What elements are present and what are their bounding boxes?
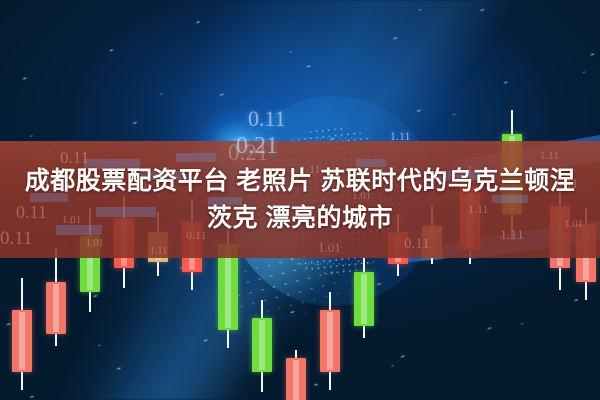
page-title: 成都股票配资平台 老照片 苏联时代的乌克兰顿涅 茨克 漂亮的城市 (0, 163, 600, 237)
floating-number: 1.11 (390, 130, 411, 142)
floating-number: 0.11 (248, 108, 286, 130)
banner-image: 0.111.011.110.111.010.111.011.010.211.11… (0, 0, 600, 400)
floating-number: 0.21 (236, 134, 278, 158)
